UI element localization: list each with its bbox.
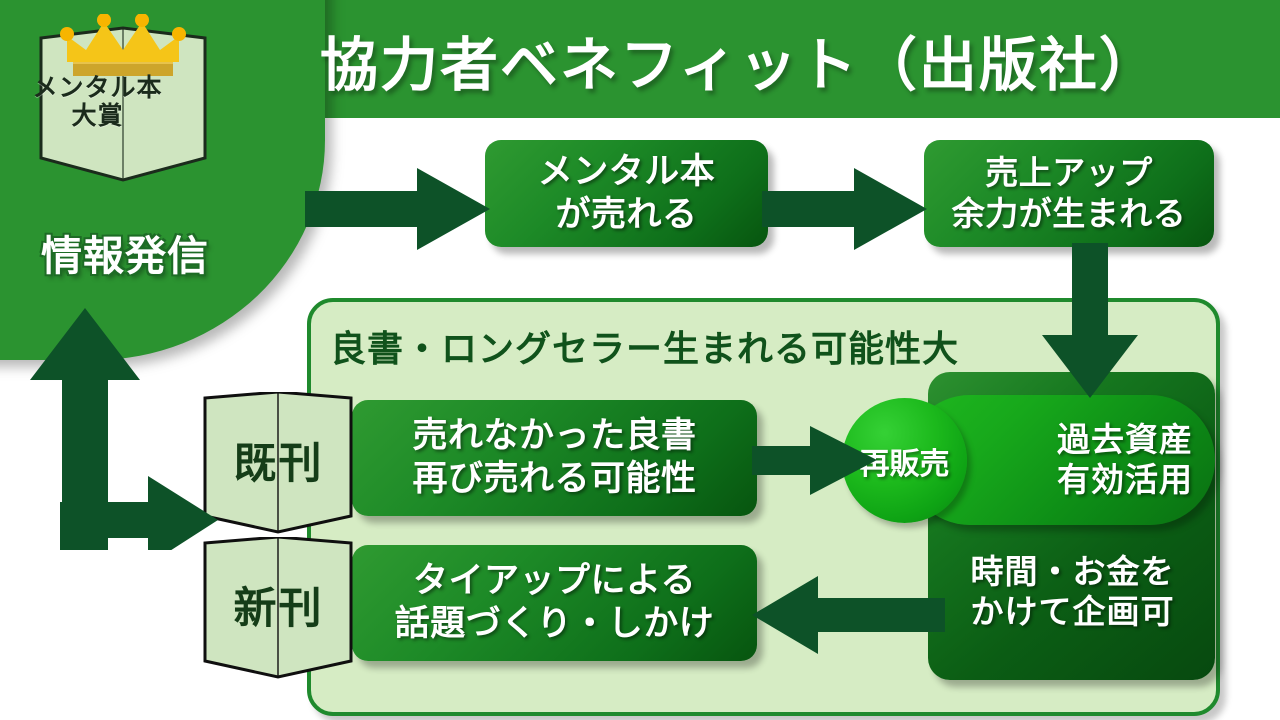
card-new-book-benefit-label: タイアップによる 話題づくり・しかけ	[395, 560, 715, 645]
arrow-logo-to-sell-icon	[305, 162, 495, 257]
card-mental-book-sells-label: メンタル本 が売れる	[538, 151, 716, 236]
card-new-book-benefit[interactable]: タイアップによる 話題づくり・しかけ	[352, 545, 757, 661]
card-existing-book-benefit-label: 売れなかった良書 再び売れる可能性	[412, 415, 696, 500]
card-revenue-up[interactable]: 売上アップ 余力が生まれる	[924, 140, 1214, 247]
book-icon-new: 新刊	[197, 537, 360, 679]
diagram-canvas: 協力者ベネフィット（出版社） メンタル本 大賞 情報発信 良書・ロング	[0, 0, 1280, 720]
arrow-sell-to-revenue-icon	[762, 162, 932, 257]
card-existing-book-benefit[interactable]: 売れなかった良書 再び売れる可能性	[352, 400, 757, 516]
arrow-right-to-new-icon	[750, 568, 945, 663]
award-label: メンタル本 大賞	[0, 74, 195, 130]
card-revenue-up-label: 売上アップ 余力が生まれる	[952, 153, 1187, 234]
arrow-existing-to-resell-icon	[752, 423, 882, 498]
arrow-revenue-down-icon	[1030, 243, 1150, 403]
card-mental-book-sells[interactable]: メンタル本 が売れる	[485, 140, 768, 247]
planning-note-label: 時間・お金を かけて企画可	[940, 552, 1205, 633]
past-asset-pill-label: 過去資産 有効活用	[1057, 420, 1193, 501]
broadcast-caption: 情報発信	[10, 222, 240, 282]
page-title: 協力者ベネフィット（出版社）	[320, 18, 1250, 102]
book-icon-new-label: 新刊	[197, 537, 360, 679]
arrow-loop-back-up-icon	[18, 280, 248, 550]
panel-title: 良書・ロングセラー生まれる可能性大	[330, 320, 959, 372]
